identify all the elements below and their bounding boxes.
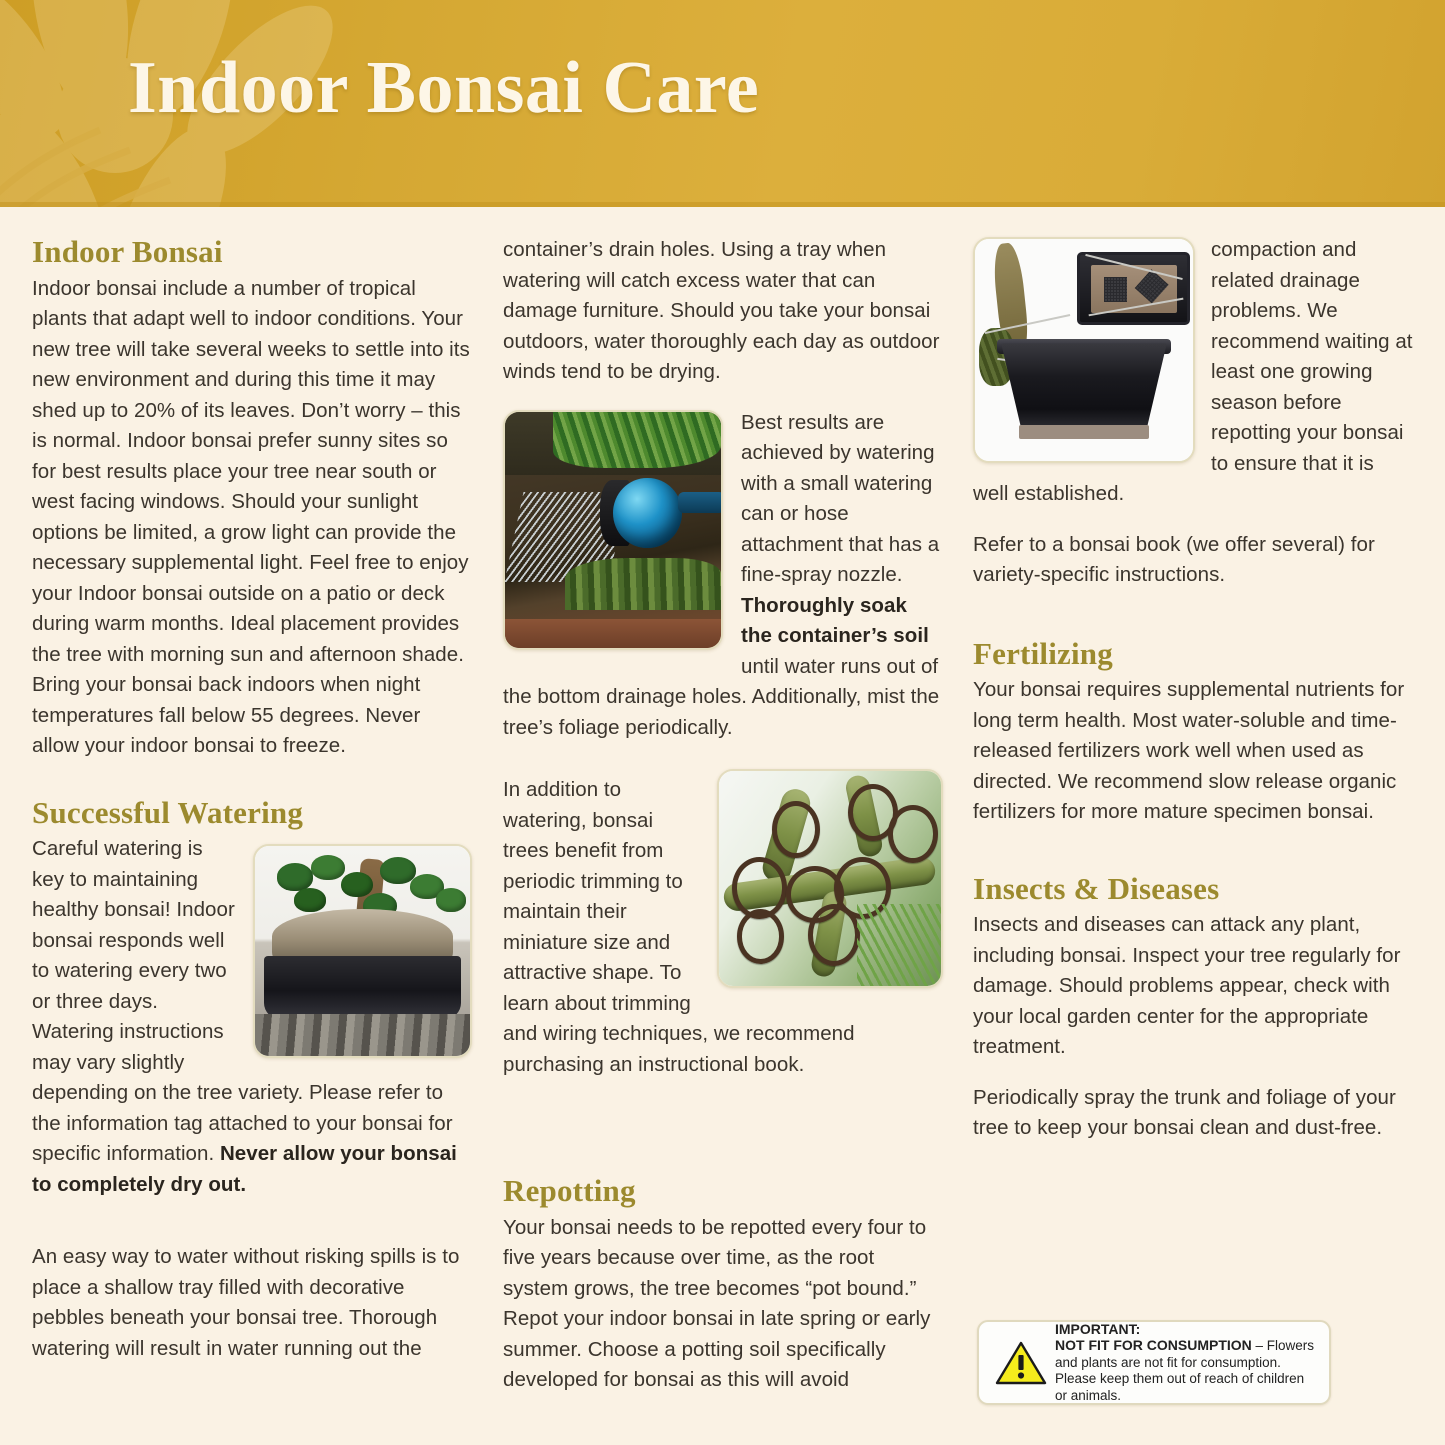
column-2: container’s drain holes. Using a tray wh…	[503, 235, 943, 1416]
heading-fertilizing: Fertilizing	[973, 637, 1413, 672]
paragraph-insects: Insects and diseases can attack any plan…	[973, 910, 1413, 1063]
jade-bonsai-photo	[253, 844, 472, 1058]
best-results-text: Best results are achieved by watering wi…	[741, 411, 939, 587]
page-header: Indoor Bonsai Care	[0, 0, 1445, 207]
heading-indoor-bonsai: Indoor Bonsai	[32, 235, 472, 270]
hose-nozzle-watering-photo	[503, 410, 723, 650]
column-3: compaction and related drainage problems…	[973, 235, 1413, 1164]
warning-line-2-bold: NOT FIT FOR CONSUMPTION	[1055, 1337, 1252, 1353]
paragraph-fertilizing: Your bonsai requires supplemental nutrie…	[973, 675, 1413, 828]
paragraph-indoor-bonsai: Indoor bonsai include a number of tropic…	[32, 274, 472, 762]
soak-bold-instruction: Thoroughly soak the container’s soil	[741, 594, 929, 648]
warning-triangle-icon	[995, 1340, 1047, 1386]
warning-line-1: IMPORTANT:	[1055, 1321, 1319, 1338]
paragraph-repotting: Your bonsai needs to be repotted every f…	[503, 1213, 943, 1396]
best-results-end-text: until water runs out of the bottom drain…	[503, 655, 939, 739]
paragraph-bonsai-book: Refer to a bonsai book (we offer several…	[973, 530, 1413, 591]
page-root: Indoor Bonsai Care Indoor Bonsai Indoor …	[0, 0, 1445, 1445]
heading-repotting: Repotting	[503, 1174, 943, 1209]
column-1: Indoor Bonsai Indoor bonsai include a nu…	[32, 235, 472, 1384]
wired-branch-photo	[717, 769, 943, 988]
warning-text-block: IMPORTANT: NOT FIT FOR CONSUMPTION – Flo…	[1055, 1321, 1319, 1405]
important-warning-box: IMPORTANT: NOT FIT FOR CONSUMPTION – Flo…	[977, 1320, 1331, 1405]
paragraph-drain-holes: container’s drain holes. Using a tray wh…	[503, 235, 943, 388]
paragraph-tray-pebbles: An easy way to water without risking spi…	[32, 1242, 472, 1364]
bonsai-pot-mesh-photo	[973, 237, 1195, 463]
heading-successful-watering: Successful Watering	[32, 796, 472, 831]
page-title: Indoor Bonsai Care	[128, 50, 759, 128]
content-columns: Indoor Bonsai Indoor bonsai include a nu…	[0, 207, 1445, 1445]
paragraph-spray-trunk: Periodically spray the trunk and foliage…	[973, 1083, 1413, 1144]
heading-insects-diseases: Insects & Diseases	[973, 872, 1413, 907]
